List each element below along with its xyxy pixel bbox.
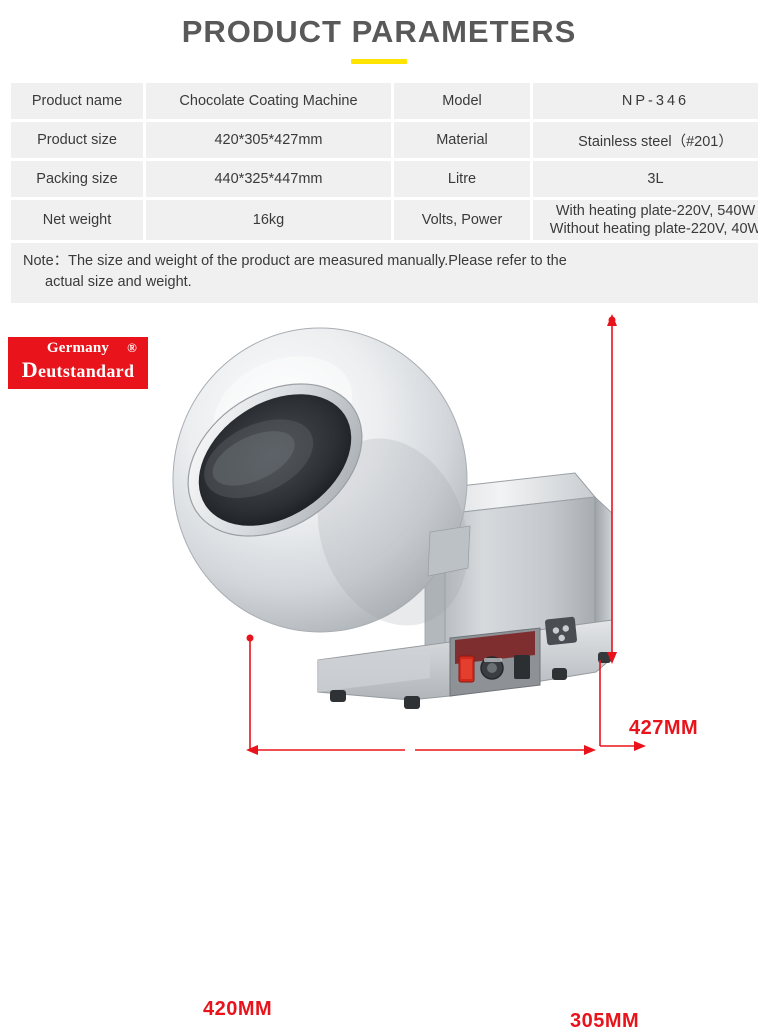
product-photo: 427MM 420MM 305MM — [0, 300, 758, 758]
spec-value-material: Stainless steel（#201） — [533, 122, 758, 158]
product-illustration — [0, 300, 758, 758]
spec-table-wrapper: Product name Chocolate Coating Machine M… — [8, 80, 750, 306]
volts-power-line1: With heating plate-220V, 540W — [537, 202, 758, 220]
product-parameters-page: PRODUCT PARAMETERS Product name Chocolat… — [0, 0, 758, 758]
spec-label-volts-power: Volts, Power — [394, 200, 530, 240]
power-socket — [545, 617, 578, 646]
spec-value-model: NP-346 — [533, 83, 758, 119]
spec-label-product-size: Product size — [11, 122, 143, 158]
spec-value-volts-power: With heating plate-220V, 540W Without he… — [533, 200, 758, 240]
title-underline — [351, 59, 407, 64]
table-row-note: Note：The size and weight of the product … — [11, 243, 758, 303]
spec-label-product-name: Product name — [11, 83, 143, 119]
indicator-block — [514, 655, 530, 679]
page-title: PRODUCT PARAMETERS — [0, 0, 758, 50]
control-panel — [450, 628, 540, 696]
note-line-2: actual size and weight. — [23, 272, 758, 293]
volts-power-line2: Without heating plate-220V, 40W — [537, 220, 758, 238]
coating-pan — [160, 328, 494, 647]
spec-label-model: Model — [394, 83, 530, 119]
spec-label-material: Material — [394, 122, 530, 158]
spec-value-net-weight: 16kg — [146, 200, 391, 240]
machine-foot — [552, 668, 567, 680]
table-row: Packing size 440*325*447mm Litre 3L — [11, 161, 758, 197]
spec-value-product-size: 420*305*427mm — [146, 122, 391, 158]
spec-label-packing-size: Packing size — [11, 161, 143, 197]
spec-value-litre: 3L — [533, 161, 758, 197]
note-line-1: Note：The size and weight of the product … — [23, 253, 567, 269]
dimension-depth-label: 305MM — [570, 1010, 639, 1033]
spec-note: Note：The size and weight of the product … — [11, 243, 758, 303]
dimension-height-label: 427MM — [629, 717, 698, 740]
spec-label-net-weight: Net weight — [11, 200, 143, 240]
table-row: Net weight 16kg Volts, Power With heatin… — [11, 200, 758, 240]
spec-value-product-name: Chocolate Coating Machine — [146, 83, 391, 119]
pan-mount — [428, 526, 470, 576]
machine-foot — [330, 690, 346, 702]
table-row: Product name Chocolate Coating Machine M… — [11, 83, 758, 119]
spec-label-litre: Litre — [394, 161, 530, 197]
spec-value-packing-size: 440*325*447mm — [146, 161, 391, 197]
table-row: Product size 420*305*427mm Material Stai… — [11, 122, 758, 158]
dimension-width-label: 420MM — [203, 998, 272, 1021]
spec-table: Product name Chocolate Coating Machine M… — [8, 80, 758, 306]
machine-foot — [404, 696, 420, 709]
